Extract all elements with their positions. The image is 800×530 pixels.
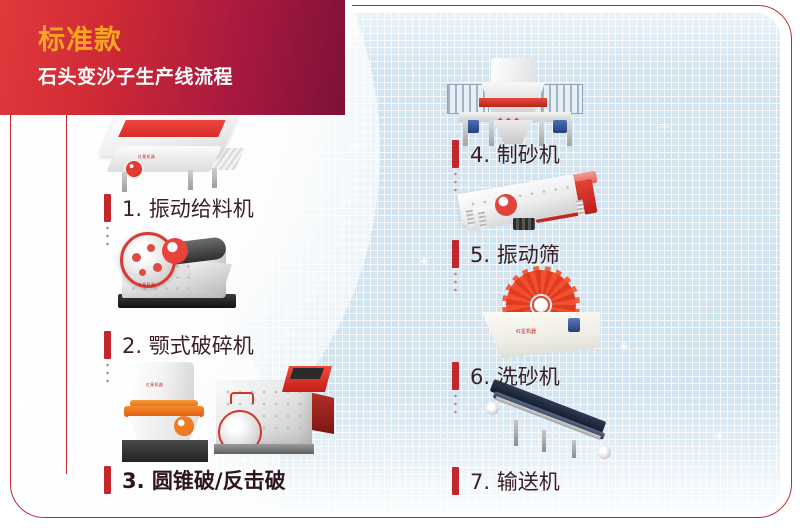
step-marker-bar <box>104 331 111 359</box>
machine-jaw-crusher: 红星机器 <box>112 226 252 322</box>
brand-mark: 红星机器 <box>146 382 163 388</box>
cone-crusher-drive <box>174 416 194 436</box>
step-item-2[interactable]: 2. 颚式破碎机 <box>104 330 254 360</box>
step-item-7[interactable]: 7. 输送机 <box>452 466 560 496</box>
step-marker-bar <box>452 140 459 168</box>
feeder-leg <box>212 168 217 188</box>
cone-crusher-base-frame <box>122 440 208 462</box>
step-marker-bar <box>452 240 459 268</box>
machine-belt-conveyor <box>488 390 628 466</box>
step-label-6: 6. 洗砂机 <box>470 361 560 391</box>
impact-crusher-feed-opening <box>290 368 324 379</box>
sand-maker-leg <box>567 120 572 146</box>
brand-mark: 红星机器 <box>138 154 155 160</box>
sand-maker-right-platform <box>541 84 583 114</box>
brand-mark: 红星机器 <box>516 328 536 335</box>
conveyor-head-drum <box>486 402 499 415</box>
step-marker-bar <box>452 467 459 495</box>
flywheel-hole <box>147 244 155 252</box>
impact-crusher-base <box>214 444 314 454</box>
machine-sand-making: ★★★ <box>445 58 595 150</box>
step-label-5: 5. 振动筛 <box>470 239 560 269</box>
feeder-red-liner <box>118 120 226 137</box>
sparkle-icon <box>420 257 428 265</box>
sand-maker-motor-right <box>553 120 567 133</box>
sand-maker-red-band <box>479 98 547 107</box>
machine-vibrating-feeder: 红星机器 <box>100 112 250 192</box>
step-label-7: 7. 输送机 <box>470 466 560 496</box>
cone-crusher-adjustment-ring <box>124 406 204 417</box>
sand-washer-control-box <box>568 318 580 332</box>
step-item-4[interactable]: 4. 制砂机 <box>452 139 560 169</box>
step-connector-dots-1 <box>106 224 109 250</box>
machine-cone-crusher: 红星机器 <box>118 360 218 464</box>
screen-exciter-pulley <box>495 194 517 216</box>
flywheel-hole <box>139 269 146 276</box>
sand-washer-hub <box>532 296 550 314</box>
step-connector-dots-2 <box>106 361 109 387</box>
step-label-1: 1. 振动给料机 <box>122 193 254 223</box>
sand-washer-tank <box>482 312 600 358</box>
step-connector-dots-6 <box>454 392 457 414</box>
jaw-crusher-pulley <box>162 238 188 264</box>
step-label-3: 3. 圆锥破/反击破 <box>122 465 286 495</box>
conveyor-leg <box>542 430 546 452</box>
sparkle-icon <box>620 342 628 350</box>
step-item-5[interactable]: 5. 振动筛 <box>452 239 560 269</box>
flywheel-hole <box>132 253 141 262</box>
step-item-6[interactable]: 6. 洗砂机 <box>452 361 560 391</box>
impact-crusher-lifting-handle <box>230 392 254 404</box>
step-marker-bar <box>104 194 111 222</box>
flywheel-hole <box>153 263 162 272</box>
machine-vibrating-screen <box>455 166 615 242</box>
step-marker-bar <box>452 362 459 390</box>
machine-impact-crusher <box>208 362 338 462</box>
step-item-1[interactable]: 1. 振动给料机 <box>104 193 254 223</box>
step-label-2: 2. 颚式破碎机 <box>122 330 254 360</box>
step-marker-bar <box>104 466 111 494</box>
sparkle-icon <box>410 72 417 79</box>
sand-maker-feed-drum <box>491 58 535 84</box>
sparkle-icon <box>660 122 669 131</box>
conveyor-tail-drum <box>598 446 611 459</box>
infographic-canvas: 标准款 石头变沙子生产线流程 红星机器 1. 振动给料机 红星 <box>0 0 800 530</box>
feeder-motor <box>124 159 144 179</box>
step-label-4: 4. 制砂机 <box>470 139 560 169</box>
feeder-leg <box>122 172 127 192</box>
conveyor-leg <box>514 420 518 446</box>
step-item-3[interactable]: 3. 圆锥破/反击破 <box>104 465 286 495</box>
conveyor-leg <box>572 440 576 458</box>
header-banner: 标准款 石头变沙子生产线流程 <box>0 0 345 115</box>
banner-title: 标准款 <box>38 18 122 57</box>
banner-subtitle: 石头变沙子生产线流程 <box>38 62 233 89</box>
screen-motor <box>513 218 535 230</box>
machine-sand-washer: 红星机器 <box>482 272 612 364</box>
brand-mark: 红星机器 <box>138 282 155 288</box>
feeder-leg <box>188 170 193 190</box>
step-connector-dots-5 <box>454 270 457 292</box>
